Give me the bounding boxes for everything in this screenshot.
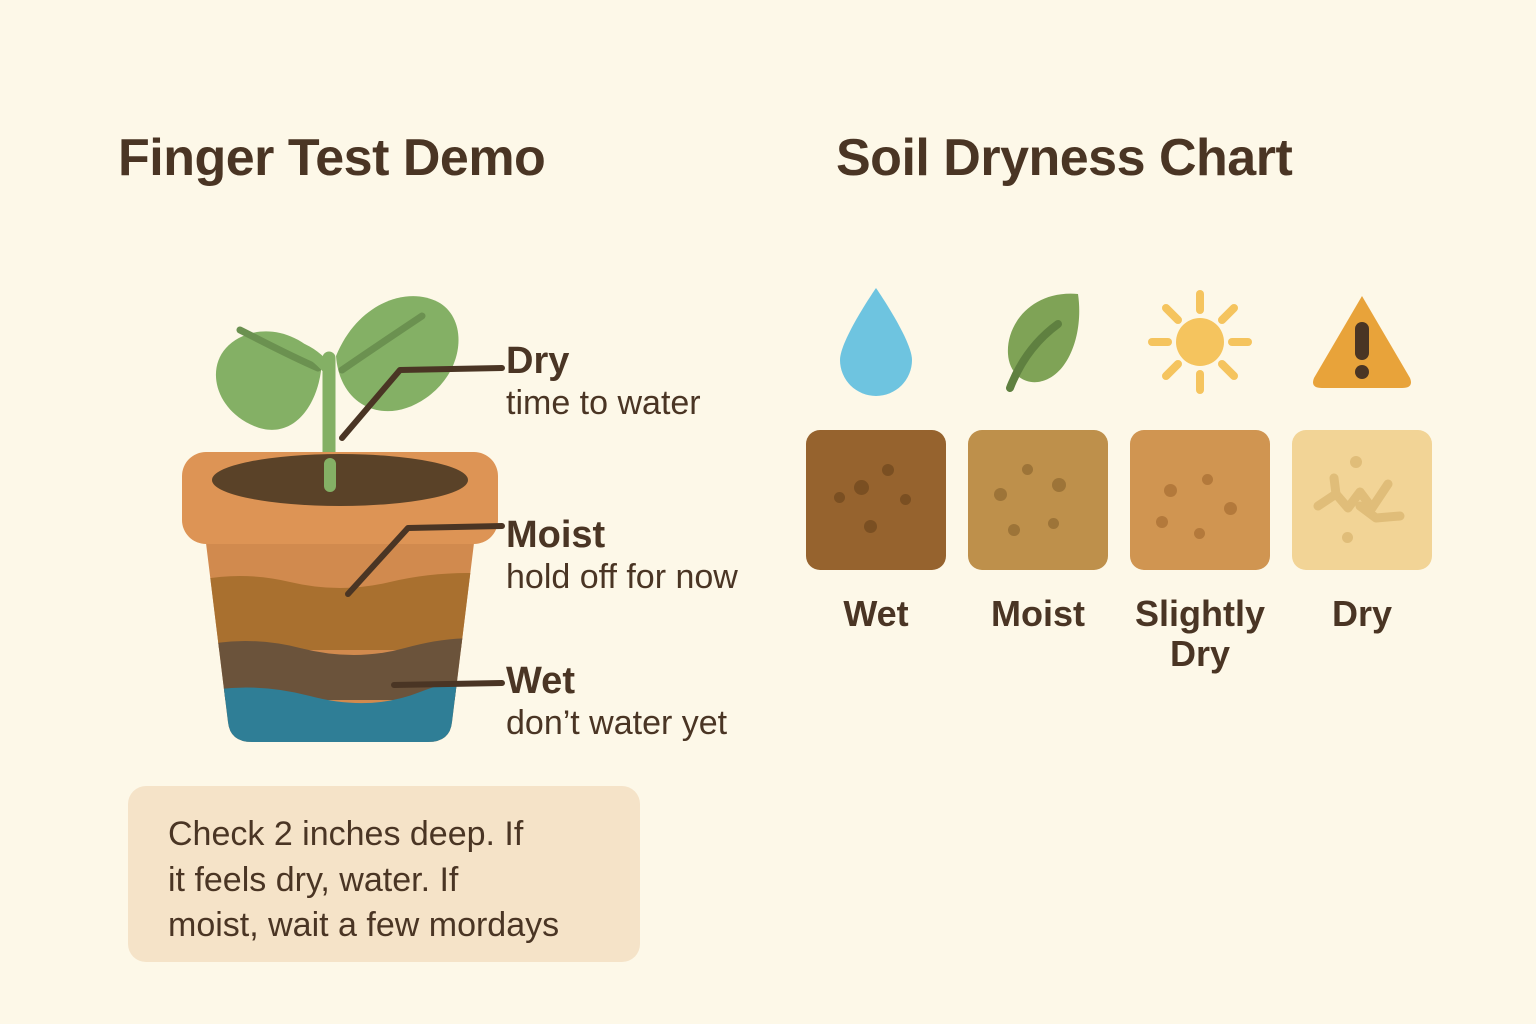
callout-wet-title: Wet: [506, 662, 727, 702]
callout-wet: Wet don’t water yet: [506, 662, 727, 744]
chart-column-wet: Wet: [806, 282, 946, 702]
callout-leader-lines: [330, 330, 530, 730]
leader-line-dry: [342, 368, 502, 438]
callout-moist-title: Moist: [506, 516, 738, 556]
water-drop-icon: [806, 282, 946, 402]
warning-triangle-icon: [1292, 282, 1432, 402]
soil-swatch-wet: [806, 430, 946, 570]
callout-moist: Moist hold off for now: [506, 516, 738, 598]
callout-dry-subtitle: time to water: [506, 382, 701, 425]
callout-wet-subtitle: don’t water yet: [506, 702, 727, 745]
tip-box-text: Check 2 inches deep. If it feels dry, wa…: [168, 812, 610, 949]
page-title-finger-test: Finger Test Demo: [118, 128, 545, 188]
soil-swatch-slightly-dry: [1130, 430, 1270, 570]
leaf-icon: [968, 282, 1108, 402]
chart-label-dry: Dry: [1332, 594, 1392, 634]
sun-icon: [1130, 282, 1270, 402]
chart-label-wet: Wet: [843, 594, 908, 634]
page-title-soil-dryness: Soil Dryness Chart: [836, 128, 1292, 188]
soil-swatch-dry: [1292, 430, 1432, 570]
chart-column-moist: Moist: [968, 282, 1108, 702]
soil-dryness-chart: Wet Moist: [806, 282, 1466, 702]
crack-lines-icon: [1292, 430, 1432, 570]
chart-label-slightly-dry: Slightly Dry: [1130, 594, 1270, 673]
callout-dry-title: Dry: [506, 342, 701, 382]
soil-swatch-moist: [968, 430, 1108, 570]
callout-moist-subtitle: hold off for now: [506, 556, 738, 599]
tip-box: Check 2 inches deep. If it feels dry, wa…: [128, 786, 640, 962]
chart-column-slightly-dry: Slightly Dry: [1130, 282, 1270, 702]
leader-line-wet: [394, 683, 502, 685]
callout-dry: Dry time to water: [506, 342, 701, 424]
chart-column-dry: Dry: [1292, 282, 1432, 702]
chart-label-moist: Moist: [991, 594, 1085, 634]
leader-line-moist: [348, 526, 502, 594]
